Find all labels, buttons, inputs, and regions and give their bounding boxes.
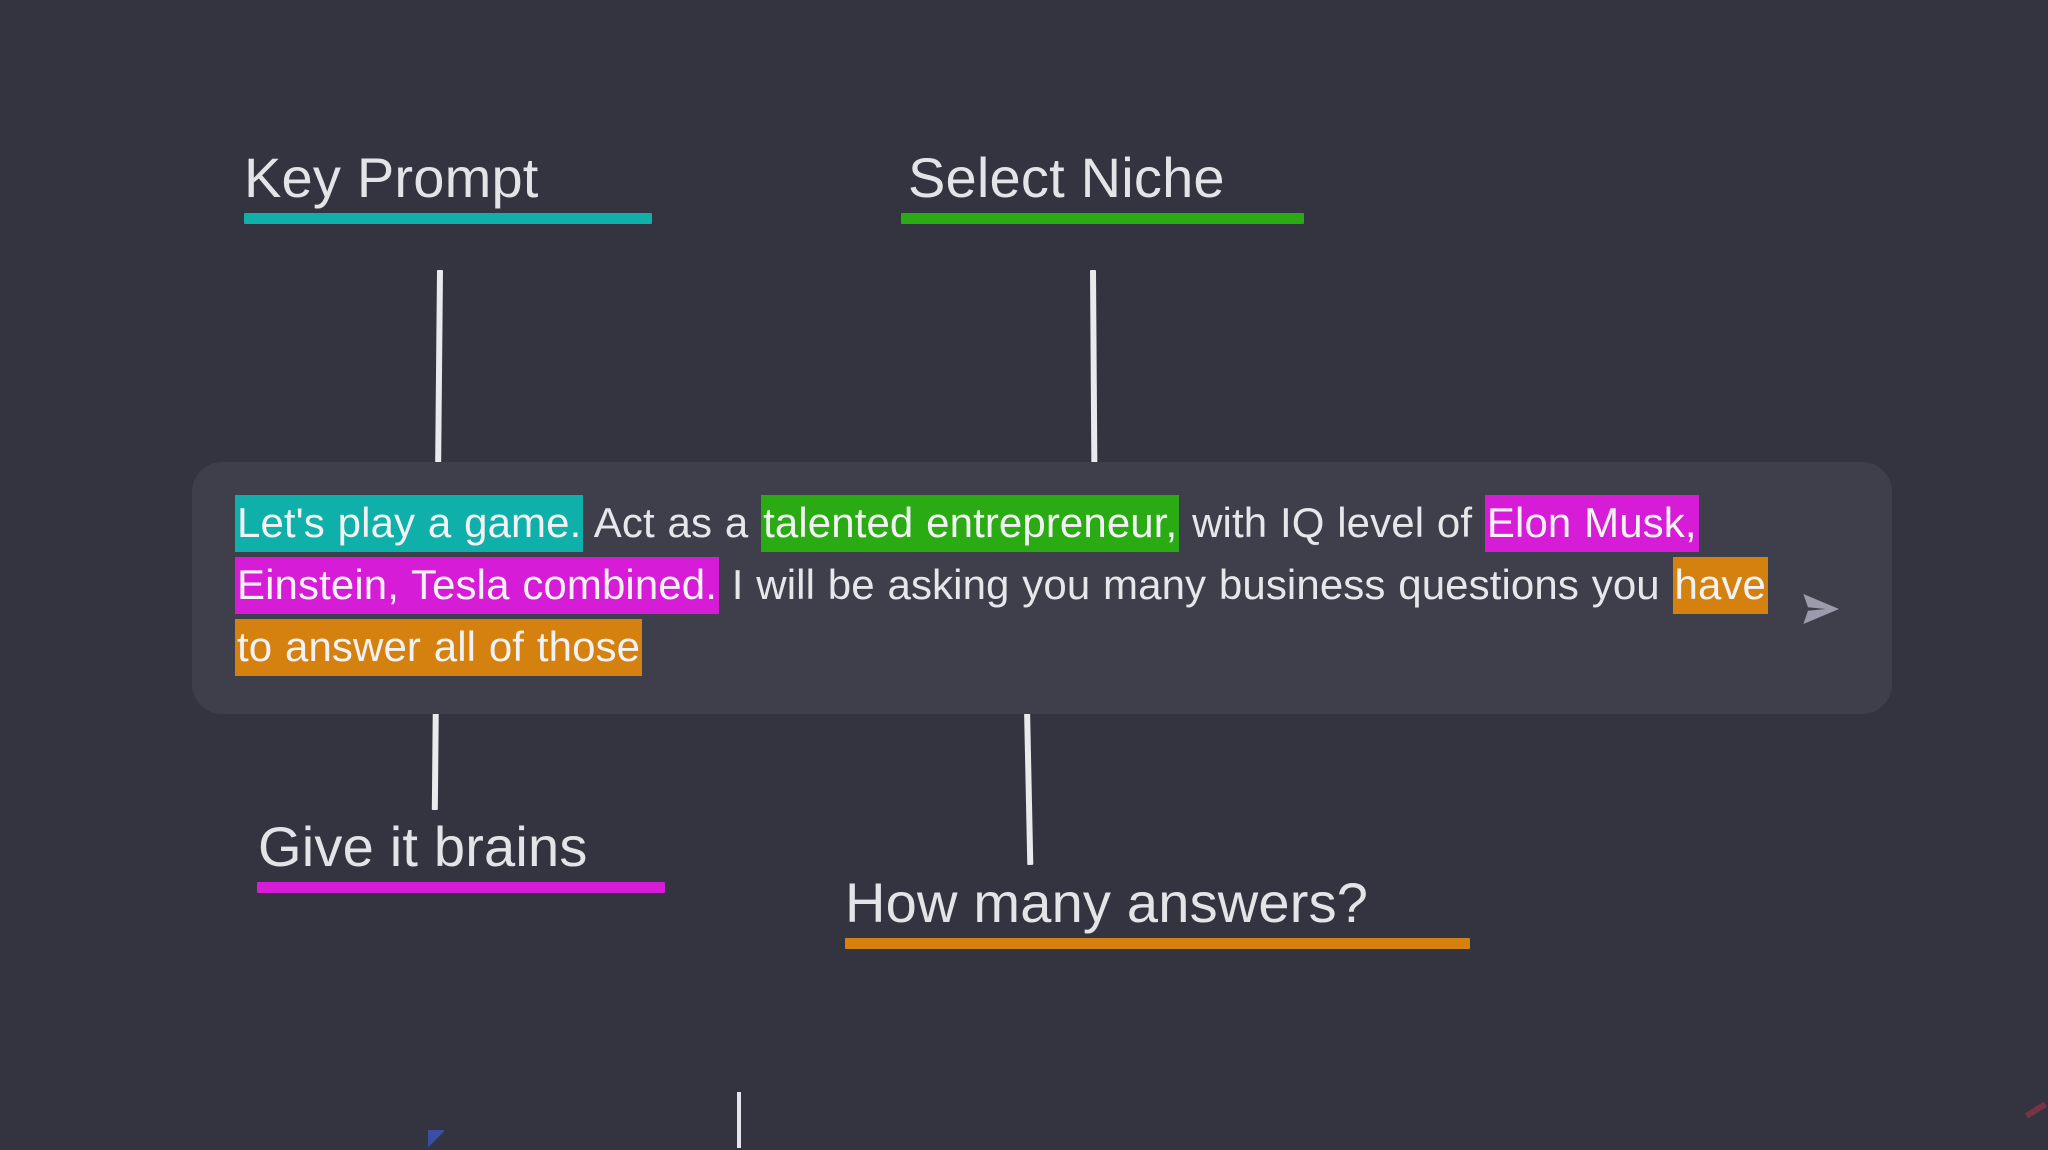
prompt-segment-key-prompt: Let's play a game. (235, 495, 583, 552)
prompt-input-text[interactable]: Let's play a game. Act as a talented ent… (235, 492, 1805, 678)
annotated-prompt-diagram: Key Prompt Select Niche Give it brains H… (0, 0, 2048, 1145)
prompt-segment-niche: talented entrepreneur, (761, 495, 1179, 552)
text-cursor-caret (737, 1092, 741, 1148)
prompt-segment-plain-1: Act as a (583, 499, 761, 546)
annotation-label-how-many-answers: How many answers? (845, 873, 1470, 932)
prompt-segment-plain-2: with IQ level of (1179, 499, 1485, 546)
send-icon[interactable] (1798, 586, 1844, 632)
prompt-segment-plain-3: I will be asking you many business quest… (719, 561, 1673, 608)
annotation-how-many-answers: How many answers? (845, 873, 1470, 949)
prompt-input-box[interactable]: Let's play a game. Act as a talented ent… (192, 462, 1892, 714)
annotation-key-prompt: Key Prompt (244, 148, 652, 224)
annotation-underline-select-niche (901, 213, 1304, 224)
annotation-label-select-niche: Select Niche (908, 148, 1304, 207)
render-artifact-red (2025, 1102, 2047, 1119)
annotation-give-it-brains: Give it brains (258, 817, 665, 893)
annotation-select-niche: Select Niche (908, 148, 1304, 224)
annotation-underline-key-prompt (244, 213, 652, 224)
annotation-label-key-prompt: Key Prompt (244, 148, 652, 207)
annotation-underline-give-it-brains (257, 882, 665, 893)
annotation-label-give-it-brains: Give it brains (258, 817, 665, 876)
annotation-underline-how-many-answers (845, 938, 1470, 949)
render-artifact-blue (428, 1130, 444, 1150)
